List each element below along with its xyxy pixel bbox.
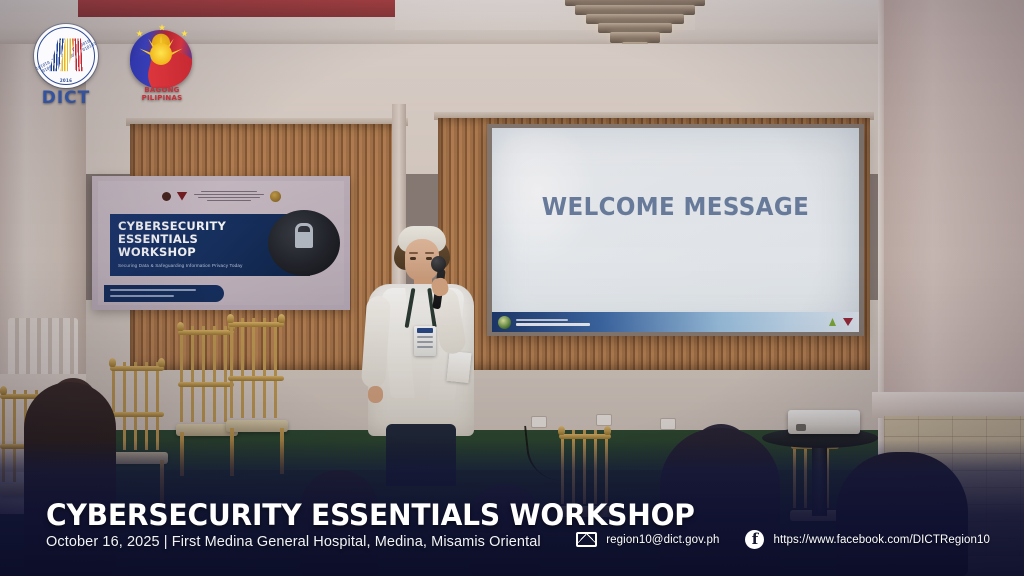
bp-star-icon bbox=[181, 30, 188, 37]
bottom-info-overlay: CYBERSECURITY ESSENTIALS WORKSHOP Octobe… bbox=[0, 440, 1024, 576]
dict-wordmark: DICT bbox=[30, 88, 102, 108]
facebook-icon: f bbox=[745, 530, 764, 549]
email-contact[interactable]: region10@dict.gov.ph bbox=[576, 532, 719, 547]
contact-group: region10@dict.gov.ph f https://www.faceb… bbox=[576, 530, 990, 549]
logo-group: 01001001 01000011 01010100 01001001 0100… bbox=[30, 24, 200, 106]
email-address: region10@dict.gov.ph bbox=[606, 534, 719, 546]
bagong-pilipinas-emblem-icon bbox=[130, 30, 192, 88]
dict-seal-year: 2016 bbox=[60, 78, 72, 83]
dict-emblem bbox=[48, 38, 84, 72]
mail-icon bbox=[576, 532, 597, 547]
event-details: October 16, 2025 | First Medina General … bbox=[46, 534, 541, 550]
bagong-pilipinas-wordmark: BAGONG PILIPINAS bbox=[124, 86, 200, 102]
dict-logo: 01001001 01000011 01010100 01001001 0100… bbox=[30, 24, 102, 106]
facebook-url: https://www.facebook.com/DICTRegion10 bbox=[773, 534, 990, 546]
facebook-contact[interactable]: f https://www.facebook.com/DICTRegion10 bbox=[745, 530, 990, 549]
screenshot-root: WELCOME MESSAGE bbox=[0, 0, 1024, 576]
bp-sun-disc bbox=[150, 43, 172, 65]
bagong-pilipinas-logo: BAGONG PILIPINAS bbox=[124, 24, 200, 102]
dict-seal-icon: 01001001 01000011 01010100 01001001 0100… bbox=[34, 24, 98, 88]
event-title: CYBERSECURITY ESSENTIALS WORKSHOP bbox=[46, 498, 695, 532]
